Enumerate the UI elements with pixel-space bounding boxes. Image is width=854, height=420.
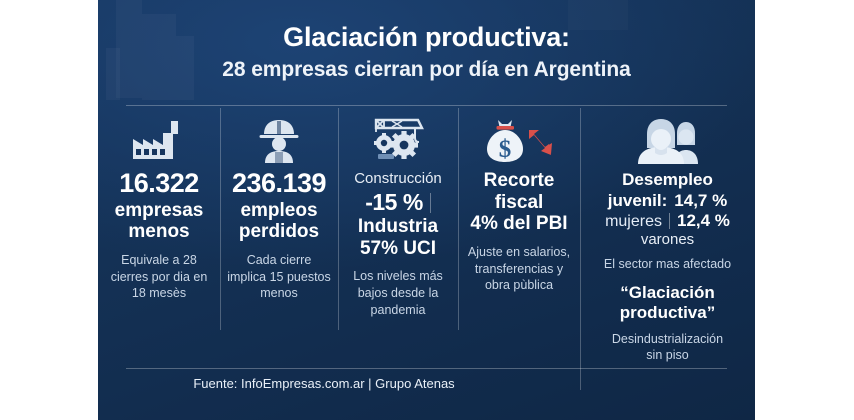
svg-text:$: $ bbox=[499, 136, 512, 163]
source-footer: Fuente: InfoEmpresas.com.ar | Grupo Aten… bbox=[98, 376, 550, 391]
stat-column-empresas: 16.322 empresas menos Equivale a 28 cier… bbox=[98, 112, 220, 402]
money-bag-down-arrow-icon: $ bbox=[481, 112, 557, 170]
stat-note-sinpiso: sin piso bbox=[646, 347, 688, 363]
divider-top bbox=[126, 105, 727, 106]
stat-quote-line1: “Glaciación bbox=[620, 283, 714, 303]
stat-column-construccion: Construcción -15 % Industria 57% UCI Los… bbox=[338, 112, 458, 402]
inline-divider bbox=[430, 193, 431, 213]
stat-column-desempleo: Desempleo juvenil: 14,7 % mujeres 12,4 %… bbox=[580, 112, 755, 402]
stat-gender-row: mujeres 12,4 % bbox=[605, 211, 730, 231]
stat-label-industria: Industria bbox=[358, 216, 438, 238]
stat-label-varones: varones bbox=[641, 231, 694, 249]
stat-label-line3: perdidos bbox=[239, 221, 319, 243]
stat-label-mujeres: mujeres bbox=[605, 213, 662, 231]
stat-quote-line2: productiva” bbox=[620, 303, 715, 323]
stat-label-line2: empleos bbox=[240, 200, 317, 222]
inline-divider bbox=[669, 213, 670, 229]
stats-columns: 16.322 empresas menos Equivale a 28 cier… bbox=[98, 112, 755, 402]
stat-value-construccion: -15 % bbox=[365, 189, 423, 216]
stat-column-recorte-fiscal: $ Recorte fiscal 4% del PBI Ajuste en sa… bbox=[458, 112, 580, 402]
stat-note-desindustrializacion: Desindustrialización bbox=[612, 331, 723, 347]
stat-juvenil-row: juvenil: 14,7 % bbox=[608, 191, 727, 211]
stat-value-varones: 12,4 % bbox=[677, 211, 730, 231]
stat-value-empleos: 236.139 bbox=[232, 170, 326, 198]
stat-label-line2: empresas bbox=[115, 200, 204, 222]
stat-label-desempleo: Desempleo bbox=[622, 170, 713, 191]
stat-value-pbi: 4% del PBI bbox=[470, 213, 567, 235]
stat-note-empresas: Equivale a 28 cierres por dia en 18 mesè… bbox=[104, 252, 214, 302]
page-subtitle: 28 empresas cierran por día en Argentina bbox=[98, 56, 755, 83]
column-divider bbox=[338, 108, 339, 330]
infographic-panel: Glaciación productiva: 28 empresas cierr… bbox=[98, 0, 755, 420]
two-people-icon bbox=[633, 112, 703, 170]
stat-pct-row: -15 % bbox=[365, 189, 431, 216]
stat-note-empleos: Cada cierre implica 15 puestos menos bbox=[226, 252, 332, 302]
stat-note-sector: El sector mas afectado bbox=[604, 256, 731, 272]
stat-note-recorte: Ajuste en salarios, transferencias y obr… bbox=[464, 244, 574, 294]
construction-worker-icon bbox=[254, 112, 304, 170]
stat-label-construccion: Construcción bbox=[354, 170, 442, 188]
stat-column-empleos: 236.139 empleos perdidos Cada cierre imp… bbox=[220, 112, 338, 402]
crane-gears-icon bbox=[368, 112, 428, 170]
header: Glaciación productiva: 28 empresas cierr… bbox=[98, 0, 755, 83]
column-divider bbox=[580, 108, 581, 390]
stat-label-juvenil: juvenil: bbox=[608, 191, 668, 211]
stat-value-empresas: 16.322 bbox=[119, 170, 199, 198]
stat-label-recorte: Recorte fiscal bbox=[464, 170, 574, 213]
page-title: Glaciación productiva: bbox=[98, 22, 755, 53]
factory-icon bbox=[131, 112, 187, 170]
column-divider bbox=[458, 108, 459, 330]
stat-value-juvenil: 14,7 % bbox=[674, 191, 727, 211]
stat-value-uci: 57% UCI bbox=[360, 238, 436, 260]
stat-label-line3: menos bbox=[128, 221, 189, 243]
stat-note-construccion: Los niveles más bajos desde la pandemia bbox=[344, 268, 452, 318]
column-divider bbox=[220, 108, 221, 330]
